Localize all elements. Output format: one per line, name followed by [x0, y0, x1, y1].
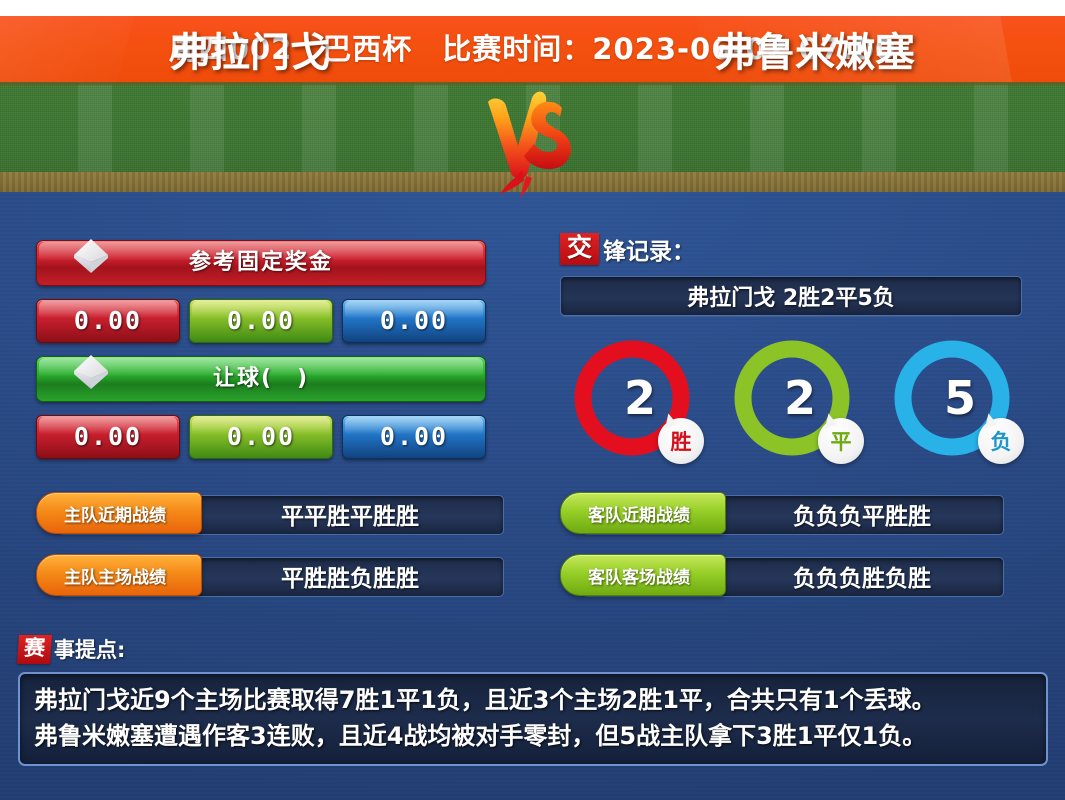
- ring-losses-badge: 负: [978, 418, 1024, 464]
- tips-chip: 赛: [17, 635, 52, 664]
- head-to-head-summary: 弗拉门戈 2胜2平5负: [687, 280, 895, 312]
- diamond-icon: [71, 236, 111, 276]
- match-preview-page: 周四002 巴西杯 比赛时间：2023-06-02 07:00 弗拉门戈 弗鲁米…: [0, 0, 1065, 800]
- body-panel: 参考固定奖金 0.00 0.00 0.00: [0, 192, 1065, 800]
- fixed-prize-odds-row: 0.00 0.00 0.00: [36, 299, 486, 343]
- diamond-icon: [71, 352, 111, 392]
- head-to-head-panel: 交 锋记录： 弗拉门戈 2胜2平5负 2 胜 2: [560, 232, 1022, 474]
- handicap-odd-home[interactable]: 0.00: [36, 415, 180, 459]
- away-recent-form-row: 客队近期战绩 负负负平胜胜: [560, 492, 1036, 536]
- handicap-odd-away-value: 0.00: [343, 416, 485, 458]
- fixed-odd-draw-value: 0.00: [190, 300, 332, 342]
- ring-wins: 2 胜: [568, 334, 696, 462]
- ring-draws-badge: 平: [818, 418, 864, 464]
- fixed-odd-away-value: 0.00: [343, 300, 485, 342]
- home-recent-form-tag: 主队近期战绩: [36, 492, 202, 534]
- ring-wins-badge: 胜: [658, 418, 704, 464]
- handicap-odd-draw-value: 0.00: [190, 416, 332, 458]
- tips-line-2: 弗鲁米嫩塞遭遇作客3连败，且近4战均被对手零封，但5战主队拿下3胜1平仅1负。: [34, 718, 1032, 754]
- head-to-head-chip: 交: [560, 233, 599, 265]
- fixed-odd-home-value: 0.00: [37, 300, 179, 342]
- fixed-odd-draw[interactable]: 0.00: [189, 299, 333, 343]
- tips-title: 赛 事提点:: [18, 632, 1048, 666]
- head-to-head-summary-bar: 弗拉门戈 2胜2平5负: [560, 276, 1022, 316]
- tips-line-1: 弗拉门戈近9个主场比赛取得7胜1平1负，且近3个主场2胜1平，合共只有1个丢球。: [34, 682, 1032, 718]
- away-away-form-value: 负负负胜负胜: [720, 557, 1004, 595]
- home-team-name: 弗拉门戈: [85, 24, 415, 82]
- odds-panel: 参考固定奖金 0.00 0.00 0.00: [36, 240, 486, 459]
- ring-draws: 2 平: [728, 334, 856, 462]
- away-team-name: 弗鲁米嫩塞: [650, 24, 980, 82]
- fixed-odd-away[interactable]: 0.00: [342, 299, 486, 343]
- handicap-odd-draw[interactable]: 0.00: [189, 415, 333, 459]
- handicap-odds-row: 0.00 0.00 0.00: [36, 415, 486, 459]
- tips-box: 弗拉门戈近9个主场比赛取得7胜1平1负，且近3个主场2胜1平，合共只有1个丢球。…: [18, 672, 1048, 766]
- handicap-header: 让球( ): [36, 356, 486, 402]
- vs-flame-icon: [466, 84, 596, 200]
- head-to-head-rings: 2 胜 2 平 5 负: [560, 334, 1022, 474]
- fixed-prize-header: 参考固定奖金: [36, 240, 486, 286]
- away-away-form-row: 客队客场战绩 负负负胜负胜: [560, 554, 1036, 598]
- handicap-odd-away[interactable]: 0.00: [342, 415, 486, 459]
- home-recent-form-value: 平平胜平胜胜: [196, 495, 504, 533]
- tips-title-text: 事提点:: [54, 634, 125, 664]
- home-home-form-row: 主队主场战绩 平胜胜负胜胜: [36, 554, 536, 598]
- away-recent-form-tag: 客队近期战绩: [560, 492, 726, 534]
- form-section: 主队近期战绩 平平胜平胜胜 主队主场战绩 平胜胜负胜胜 客队近期战绩 负负负平胜…: [36, 492, 1036, 616]
- head-to-head-title: 交 锋记录：: [560, 232, 1022, 266]
- away-form-column: 客队近期战绩 负负负平胜胜 客队客场战绩 负负负胜负胜: [536, 492, 1036, 616]
- home-home-form-tag: 主队主场战绩: [36, 554, 202, 596]
- handicap-odd-home-value: 0.00: [37, 416, 179, 458]
- home-form-column: 主队近期战绩 平平胜平胜胜 主队主场战绩 平胜胜负胜胜: [36, 492, 536, 616]
- ring-losses: 5 负: [888, 334, 1016, 462]
- away-away-form-tag: 客队客场战绩: [560, 554, 726, 596]
- fixed-odd-home[interactable]: 0.00: [36, 299, 180, 343]
- home-home-form-value: 平胜胜负胜胜: [196, 557, 504, 595]
- head-to-head-title-text: 锋记录：: [603, 232, 695, 266]
- away-recent-form-value: 负负负平胜胜: [720, 495, 1004, 533]
- home-recent-form-row: 主队近期战绩 平平胜平胜胜: [36, 492, 536, 536]
- form-grid: 主队近期战绩 平平胜平胜胜 主队主场战绩 平胜胜负胜胜 客队近期战绩 负负负平胜…: [36, 492, 1036, 616]
- tips-section: 赛 事提点: 弗拉门戈近9个主场比赛取得7胜1平1负，且近3个主场2胜1平，合共…: [18, 632, 1048, 766]
